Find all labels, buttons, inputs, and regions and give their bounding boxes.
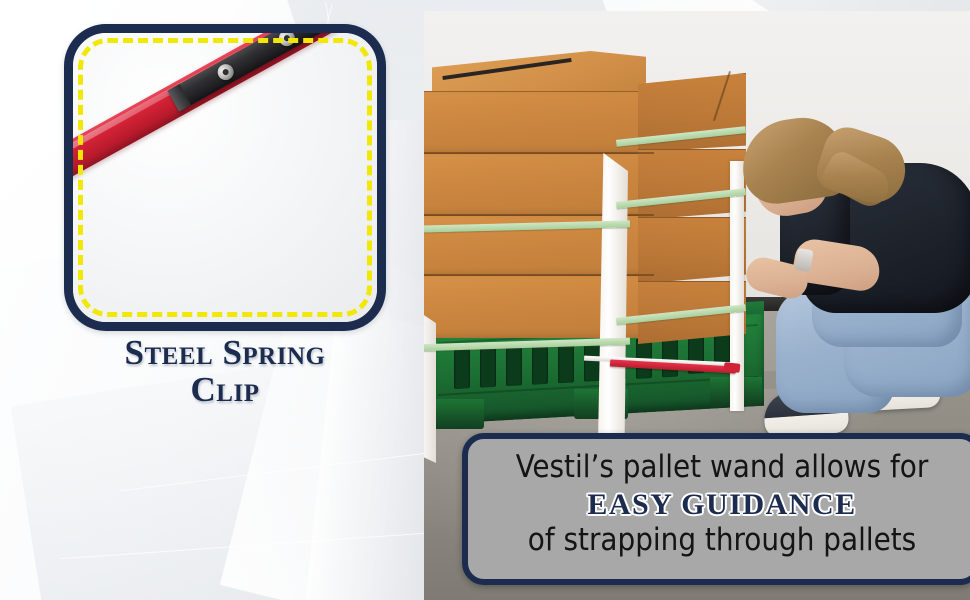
edge-protector-left [424, 311, 436, 463]
rivet-icon [215, 61, 237, 83]
clip-edge [167, 84, 191, 112]
product-marketing-banner: Steel Spring Clip Vestil’s pallet wand a… [0, 0, 970, 600]
steel-spring-clip [167, 33, 327, 112]
rivet-icon [276, 33, 298, 49]
pallet-foot [430, 399, 484, 429]
pallet-wand-handle [724, 362, 741, 373]
caption-box: Vestil’s pallet wand allows for EASY GUI… [462, 433, 970, 585]
caption-emphasis: EASY GUIDANCE [482, 488, 962, 522]
product-inset-frame [64, 24, 386, 331]
box-seam [424, 152, 654, 154]
inset-title: Steel Spring Clip [30, 334, 420, 409]
caption-line-1: Vestil’s pallet wand allows for [482, 448, 962, 488]
inset-title-line-1: Steel Spring [30, 334, 420, 371]
cardboard-box-stack [424, 51, 748, 321]
pallet-wand-body [73, 33, 337, 184]
edge-protector-right [730, 161, 744, 411]
caption-line-2: of strapping through pallets [482, 521, 962, 561]
product-inset-photo [73, 33, 377, 322]
inset-title-line-2: Clip [30, 371, 420, 408]
